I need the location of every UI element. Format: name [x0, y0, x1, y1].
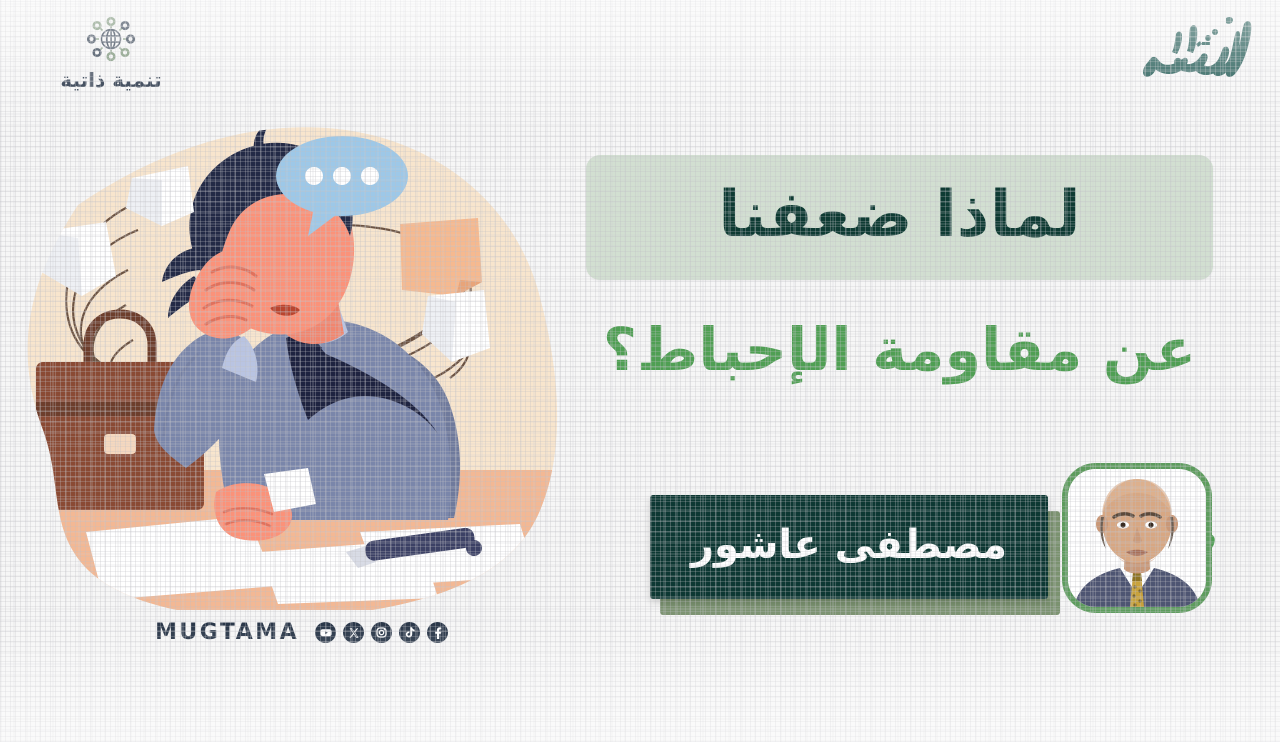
- brand-label: تنمية ذاتية: [38, 70, 184, 90]
- poster-canvas: تنمية ذاتية: [0, 0, 1280, 742]
- author-row: مصطفى عاشور: [650, 455, 1210, 620]
- brand-self-development: تنمية ذاتية: [38, 16, 184, 90]
- headline-line1: لماذا ضعفنا: [718, 183, 1080, 253]
- youtube-icon[interactable]: [315, 622, 336, 643]
- author-name-plate: مصطفى عاشور: [650, 495, 1048, 599]
- mugtama-logo: [1140, 8, 1260, 104]
- tiktok-icon[interactable]: [399, 622, 420, 643]
- headline-primary-box: لماذا ضعفنا: [586, 155, 1213, 280]
- globe-network-icon: [38, 16, 184, 66]
- author-name: مصطفى عاشور: [691, 525, 1007, 569]
- author-avatar: [1062, 463, 1212, 613]
- facebook-icon[interactable]: [427, 622, 448, 643]
- headline-line2: عن مقاومة الإحباط؟: [586, 316, 1213, 384]
- instagram-icon[interactable]: [371, 622, 392, 643]
- x-twitter-icon[interactable]: [343, 622, 364, 643]
- illustration-frustrated-businessman: [8, 100, 578, 610]
- social-links-row[interactable]: MUGTAMA: [153, 620, 448, 645]
- social-wordmark: MUGTAMA: [153, 620, 308, 645]
